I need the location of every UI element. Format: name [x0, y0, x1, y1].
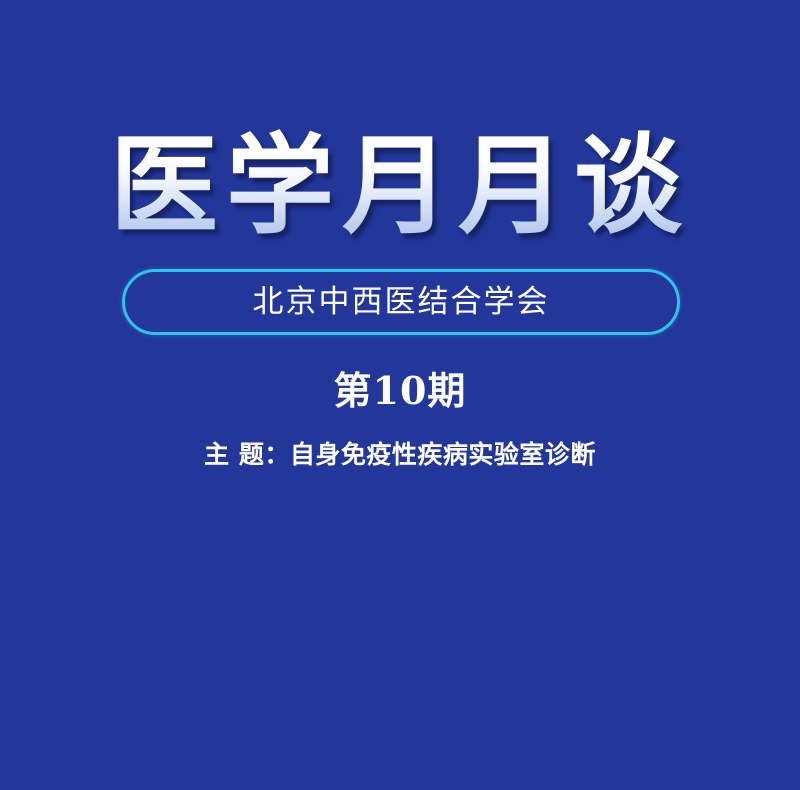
organization-name: 北京中西医结合学会 — [253, 287, 550, 318]
poster-canvas: 医学月月谈 北京中西医结合学会 第10期 主 题：自身免疫性疾病实验室诊断 — [0, 0, 800, 790]
theme-line: 主 题：自身免疫性疾病实验室诊断 — [0, 440, 800, 470]
organization-pill: 北京中西医结合学会 — [122, 269, 680, 335]
issue-number: 第10期 — [0, 370, 800, 412]
empty-lower-area — [0, 500, 800, 790]
page-title: 医学月月谈 — [110, 128, 690, 245]
title-container: 医学月月谈 — [0, 128, 800, 245]
